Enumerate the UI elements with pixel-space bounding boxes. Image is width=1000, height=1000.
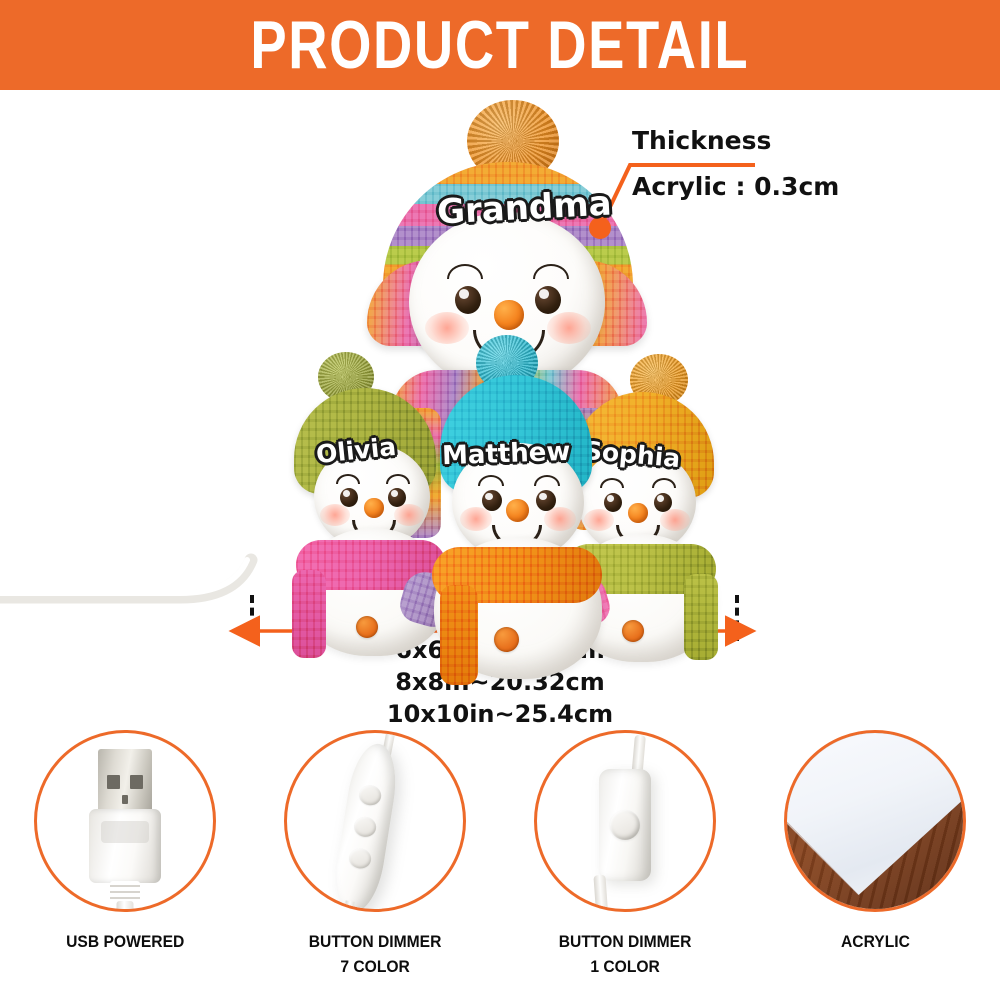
usb-strain-relief (110, 881, 140, 903)
name-label-matthew: Matthew (442, 437, 571, 471)
nose-grandma (494, 300, 524, 330)
body-button-matthew (494, 627, 519, 652)
dimmer-button-2 (353, 815, 378, 838)
page-title: PRODUCT DETAIL (251, 11, 750, 79)
nose-sophia (628, 503, 648, 523)
cheek-left-matthew (460, 507, 492, 531)
dimmer-housing (330, 740, 402, 912)
scarf-tail-sophia (684, 574, 718, 660)
feature-caption-dimmer-7: BUTTON DIMMER 7 COLOR (309, 930, 442, 979)
switch-button (610, 810, 640, 840)
feature-button-dimmer-1-color[interactable]: BUTTON DIMMER 1 COLOR (510, 730, 740, 979)
nose-matthew (506, 499, 529, 522)
caption-line-1: USB POWERED (66, 930, 184, 955)
feature-usb-powered[interactable]: USB POWERED (10, 730, 240, 955)
eye-right-grandma (535, 286, 561, 314)
feature-row: USB POWERED BUTTON DIMMER 7 COLOR (0, 730, 1000, 1000)
cheek-right-matthew (544, 507, 576, 531)
usb-cable (117, 901, 134, 912)
scarf-tail-olivia (292, 570, 326, 658)
usb-plug-body (89, 809, 161, 883)
size-option-10x10: 10x10in~25.4cm (0, 699, 1000, 731)
cheek-left-olivia (320, 504, 350, 526)
feature-acrylic[interactable]: ACRYLIC (760, 730, 990, 955)
eye-left-matthew (482, 490, 502, 511)
caption-line-1: BUTTON DIMMER (559, 930, 692, 955)
caption-line-2: 7 COLOR (309, 955, 442, 980)
feature-caption-acrylic: ACRYLIC (841, 930, 910, 955)
usb-metal-shell (98, 749, 152, 811)
acrylic-sheet-icon (784, 730, 966, 912)
body-button-olivia (356, 616, 378, 638)
three-button-dimmer-icon (284, 730, 466, 912)
caption-line-1: ACRYLIC (841, 930, 910, 955)
caption-line-2: 1 COLOR (559, 955, 692, 980)
snowman-matthew: Matthew (418, 335, 628, 625)
nose-olivia (364, 498, 384, 518)
cheek-right-sophia (660, 509, 690, 531)
feature-caption-dimmer-1: BUTTON DIMMER 1 COLOR (559, 930, 692, 979)
scarf-tail-matthew (440, 585, 478, 685)
usb-plug-icon (34, 730, 216, 912)
eye-left-grandma (455, 286, 481, 314)
product-artwork: Grandma Olivia (0, 90, 1000, 620)
product-detail-banner: PRODUCT DETAIL (0, 0, 1000, 90)
feature-button-dimmer-7-color[interactable]: BUTTON DIMMER 7 COLOR (260, 730, 490, 979)
feature-caption-usb: USB POWERED (66, 930, 184, 955)
dimmer-button-1 (358, 784, 383, 807)
caption-line-1: BUTTON DIMMER (309, 930, 442, 955)
switch-housing (599, 769, 651, 881)
eye-left-olivia (340, 488, 358, 507)
dimmer-button-3 (348, 847, 373, 870)
one-button-dimmer-icon (534, 730, 716, 912)
